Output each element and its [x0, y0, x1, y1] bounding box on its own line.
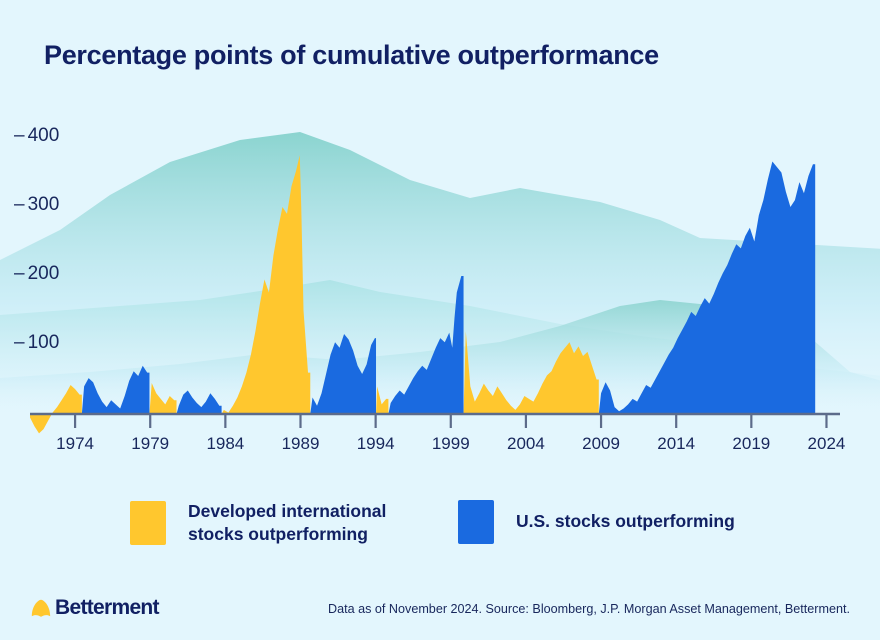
y-axis-tick-200: –200: [14, 263, 59, 285]
chart-legend: Developed international stocks outperfor…: [0, 492, 880, 562]
chart-footer: Betterment Data as of November 2024. Sou…: [0, 592, 880, 640]
chart-page: Percentage points of cumulative outperfo…: [0, 0, 880, 640]
x-axis-tick-2009: 2009: [582, 434, 620, 454]
x-axis-tick-1994: 1994: [357, 434, 395, 454]
chart-svg: [0, 110, 880, 455]
y-axis-tick-100: –100: [14, 332, 59, 354]
x-axis-tick-2004: 2004: [507, 434, 545, 454]
legend-label-international: Developed international stocks outperfor…: [188, 500, 386, 546]
legend-item-us[interactable]: U.S. stocks outperforming: [458, 500, 735, 544]
legend-label-us: U.S. stocks outperforming: [516, 510, 735, 533]
x-axis-ticks: [75, 415, 826, 428]
x-axis-tick-1999: 1999: [432, 434, 470, 454]
sun-dome-icon: [30, 597, 52, 619]
betterment-wordmark: Betterment: [55, 596, 159, 620]
x-axis-tick-2014: 2014: [657, 434, 695, 454]
chart-plot-area: –100–200–300–400 19741979198419891994199…: [0, 110, 880, 455]
x-axis-tick-1979: 1979: [131, 434, 169, 454]
y-axis-tick-300: –300: [14, 194, 59, 216]
x-axis-tick-1989: 1989: [282, 434, 320, 454]
source-note: Data as of November 2024. Source: Bloomb…: [328, 602, 850, 616]
x-axis-tick-2024: 2024: [808, 434, 846, 454]
legend-swatch-international: [130, 501, 166, 545]
x-axis-tick-2019: 2019: [732, 434, 770, 454]
betterment-logo[interactable]: Betterment: [30, 596, 159, 620]
legend-swatch-us: [458, 500, 494, 544]
x-axis-tick-1974: 1974: [56, 434, 94, 454]
legend-item-international[interactable]: Developed international stocks outperfor…: [130, 500, 386, 546]
page-title: Percentage points of cumulative outperfo…: [44, 40, 659, 71]
y-axis-tick-400: –400: [14, 125, 59, 147]
x-axis-tick-1984: 1984: [206, 434, 244, 454]
